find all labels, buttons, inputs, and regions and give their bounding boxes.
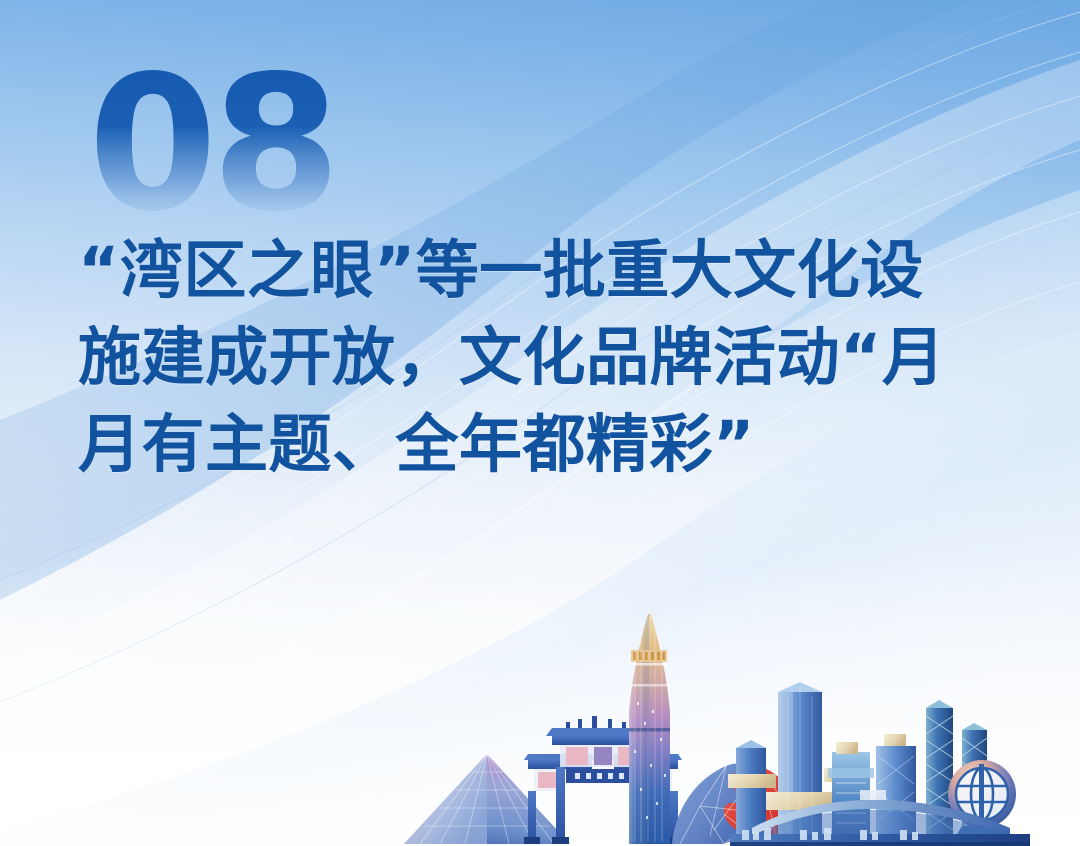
section-number-text: 08 [88, 58, 335, 238]
headline-line-2: 施建成开放，文化品牌活动“月 [78, 315, 1018, 402]
section-number: 08 [88, 58, 408, 238]
headline-line-1: “湾区之眼”等一批重大文化设 [78, 228, 1018, 315]
skyline-illustration [0, 606, 1080, 846]
headline: “湾区之眼”等一批重大文化设 施建成开放，文化品牌活动“月 月有主题、全年都精彩… [78, 228, 1018, 489]
headline-line-3: 月有主题、全年都精彩” [78, 402, 1018, 489]
poster-canvas: 08 “湾区之眼”等一批重大文化设 施建成开放，文化品牌活动“月 月有主题、全年… [0, 0, 1080, 846]
ping-an-tower-icon [629, 614, 670, 844]
